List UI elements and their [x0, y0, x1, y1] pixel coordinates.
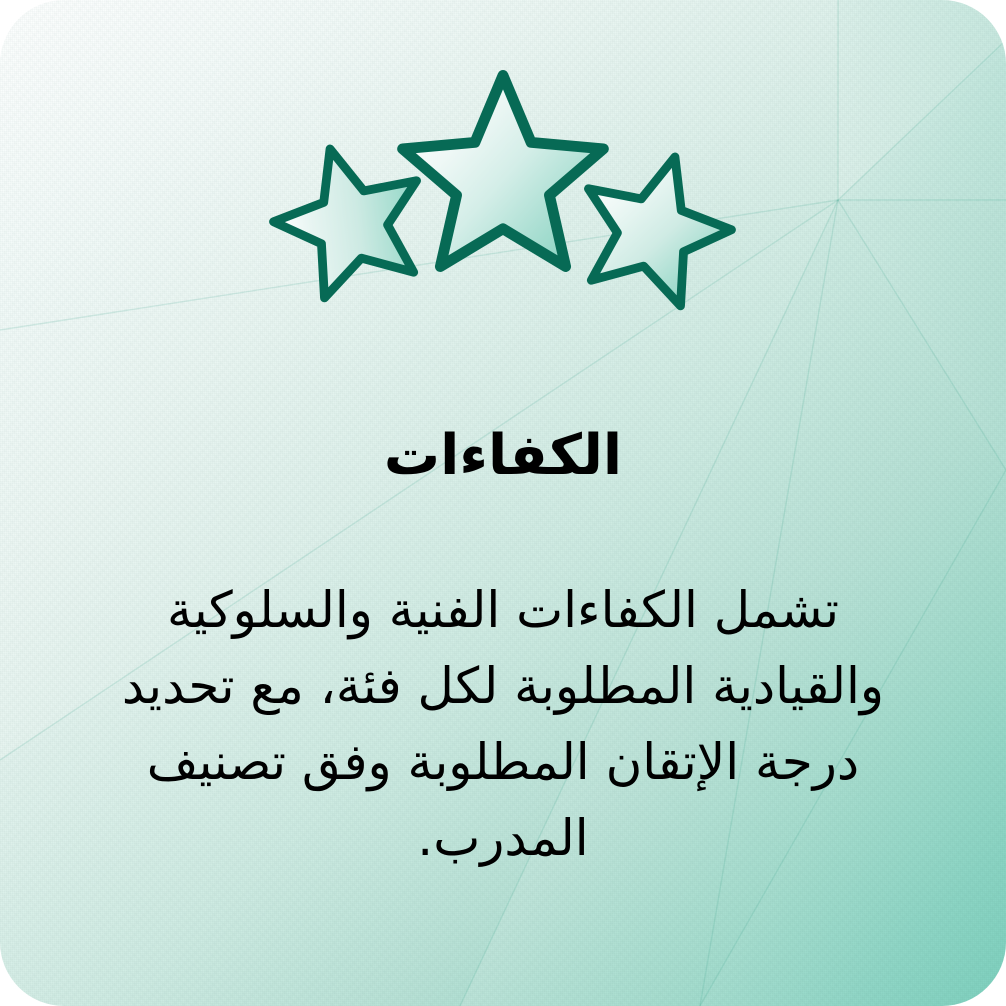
card-title: الكفاءات: [384, 428, 622, 484]
card-content: الكفاءات تشمل الكفاءات الفنية والسلوكية …: [0, 0, 1006, 1006]
card-body-text: تشمل الكفاءات الفنية والسلوكية والقيادية…: [88, 572, 918, 876]
three-stars-icon: [268, 60, 738, 320]
star-center-icon: [403, 75, 604, 266]
competency-card: الكفاءات تشمل الكفاءات الفنية والسلوكية …: [0, 0, 1006, 1006]
